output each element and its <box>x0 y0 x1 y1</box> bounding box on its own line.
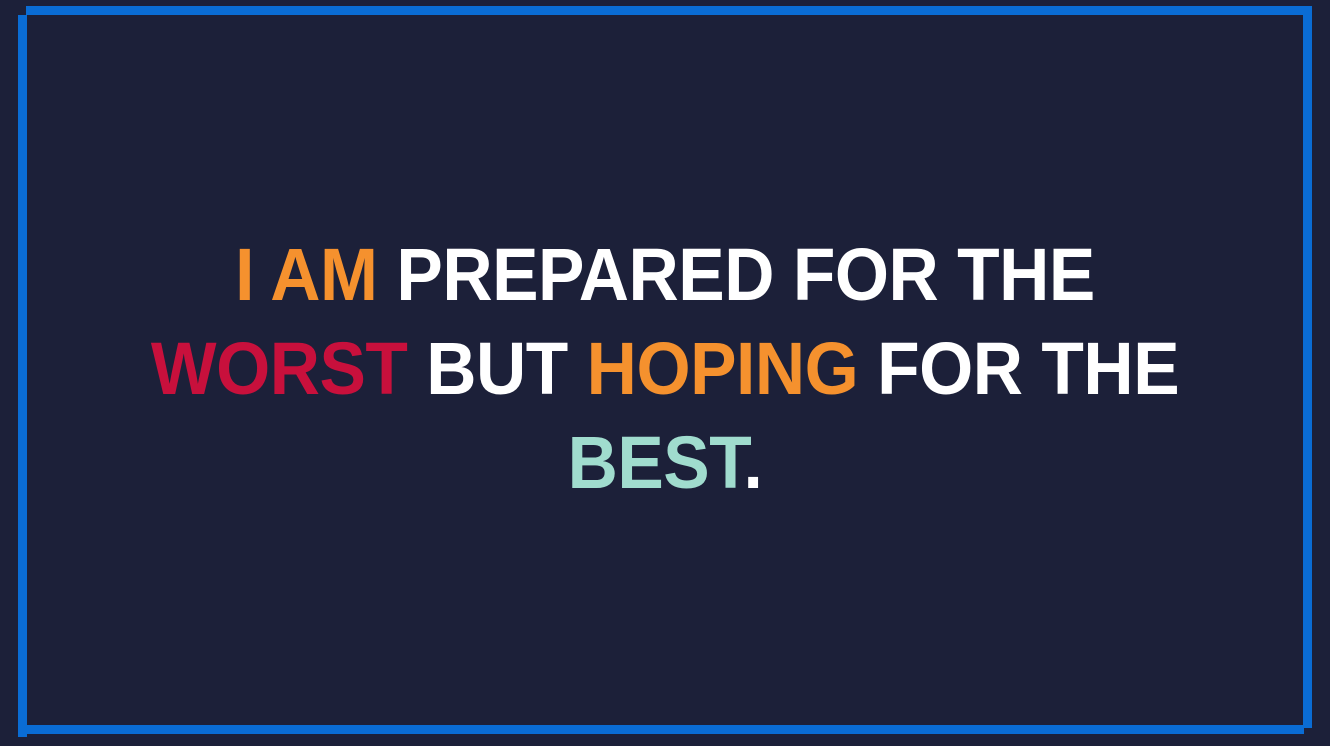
quote-text-block: I AM PREPARED FOR THE WORST BUT HOPING F… <box>0 228 1330 510</box>
quote-word: BUT <box>426 327 568 410</box>
quote-line-2: WORST BUT HOPING FOR THE <box>96 322 1233 416</box>
quote-word: PREPARED <box>396 233 774 316</box>
quote-period: . <box>744 421 763 504</box>
quote-line-1: I AM PREPARED FOR THE <box>96 228 1233 322</box>
quote-word: THE <box>957 233 1095 316</box>
frame-top-bar <box>26 6 1312 15</box>
quote-word: AM <box>270 233 377 316</box>
quote-word: FOR <box>877 327 1022 410</box>
quote-word: HOPING <box>587 327 859 410</box>
quote-word: THE <box>1041 327 1179 410</box>
quote-word: BEST <box>568 421 744 504</box>
quote-word: FOR <box>793 233 938 316</box>
quote-word: WORST <box>151 327 408 410</box>
frame-bottom-bar <box>18 725 1304 734</box>
quote-line-3: BEST. <box>96 416 1233 510</box>
quote-slide: I AM PREPARED FOR THE WORST BUT HOPING F… <box>0 0 1330 746</box>
quote-word: I <box>235 233 254 316</box>
